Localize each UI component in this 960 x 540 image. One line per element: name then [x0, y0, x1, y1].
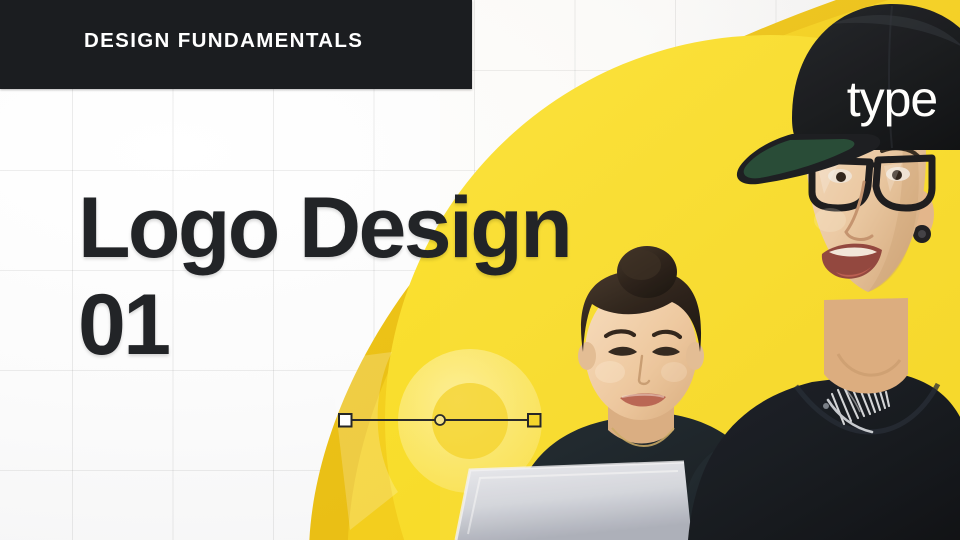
vector-path-selection[interactable] [330, 403, 550, 437]
midpoint-handle[interactable] [435, 415, 445, 425]
anchor-point-right[interactable] [528, 414, 541, 427]
people-photo: type [440, 0, 960, 540]
header-eyebrow-label: DESIGN FUNDAMENTALS [84, 31, 363, 52]
header-bar: DESIGN FUNDAMENTALS [0, 0, 472, 89]
anchor-point-left[interactable] [339, 414, 352, 427]
slide-canvas: type Logo Design 01 DESIGN FUNDAMENTALS [0, 0, 960, 540]
